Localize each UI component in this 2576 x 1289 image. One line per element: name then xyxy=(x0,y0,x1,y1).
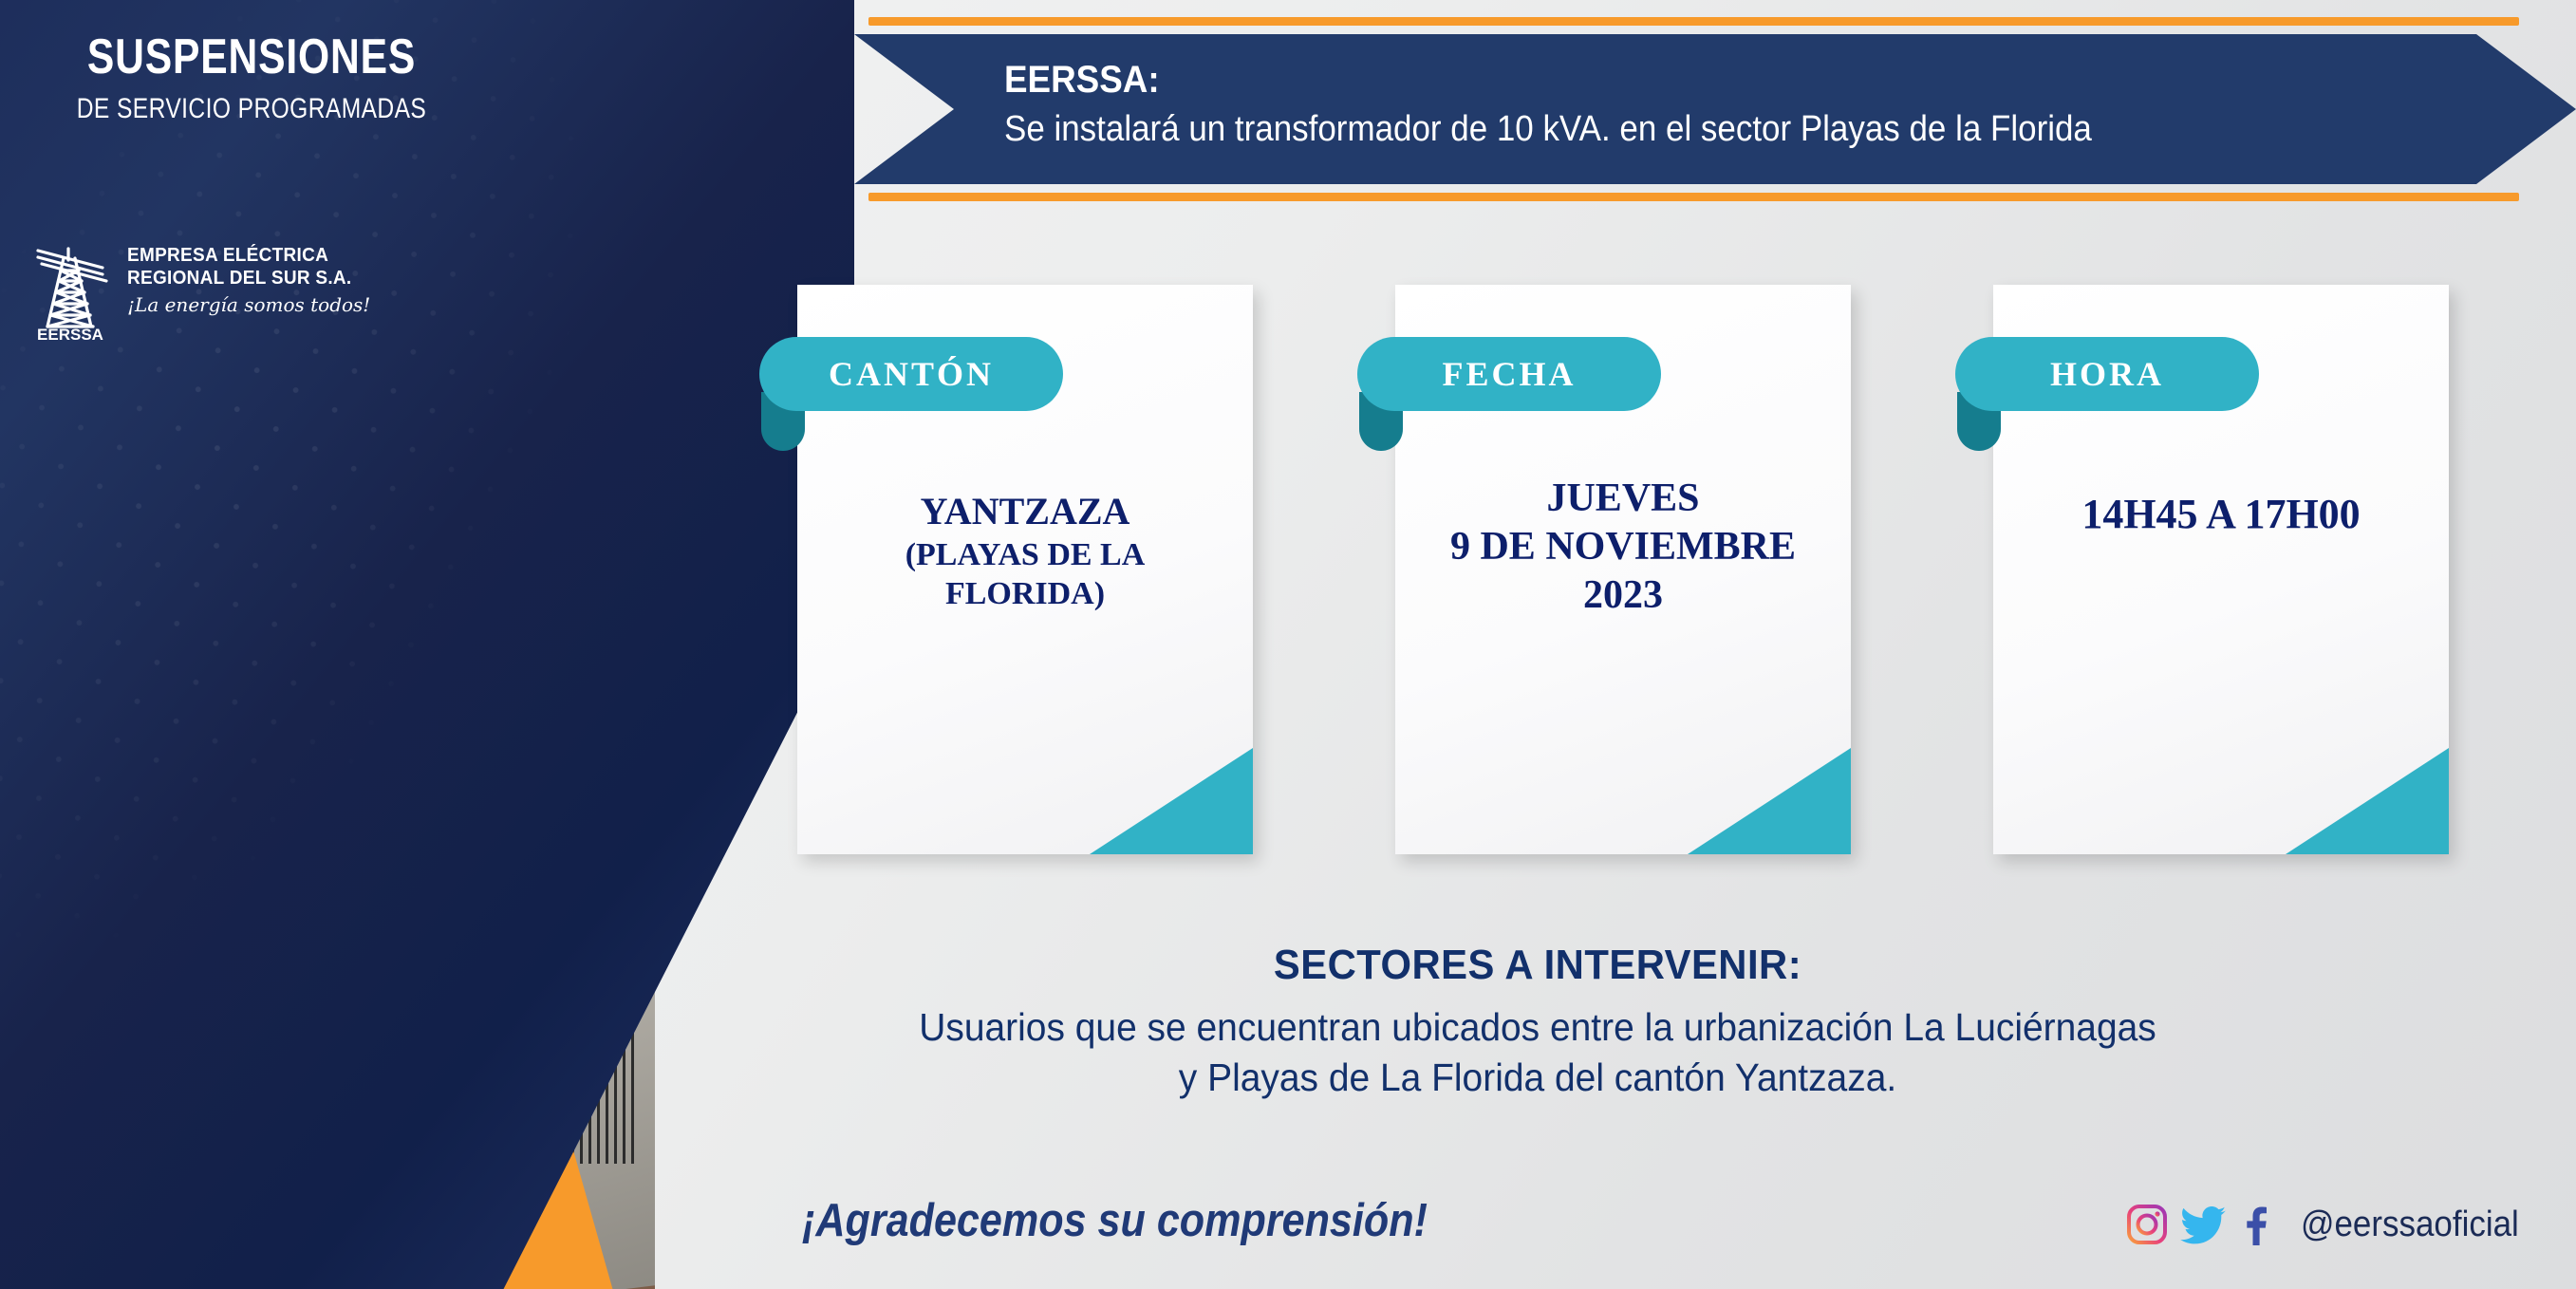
card-canton-label: CANTÓN xyxy=(829,354,994,394)
hora-range: 14H45 A 17H00 xyxy=(2010,489,2432,540)
heading-servicio-programadas: DE SERVICIO PROGRAMADAS xyxy=(46,93,458,125)
card-fecha: FECHA JUEVES 9 DE NOVIEMBRE 2023 xyxy=(1395,285,1851,854)
logo-slogan: ¡La energía somos todos! xyxy=(127,293,370,316)
banner-text: EERSSA: Se instalará un transformador de… xyxy=(1004,55,2187,154)
card-fecha-header: FECHA xyxy=(1357,337,1661,411)
orange-rule-bottom xyxy=(868,193,2519,201)
card-hora-label: HORA xyxy=(2050,354,2164,394)
card-corner-accent xyxy=(1090,748,1253,854)
sectors-line-1: Usuarios que se encuentran ubicados entr… xyxy=(762,1002,2313,1053)
card-hora-header: HORA xyxy=(1955,337,2259,411)
card-fecha-label: FECHA xyxy=(1443,354,1577,394)
banner-title: EERSSA: xyxy=(1004,55,2092,105)
card-corner-accent xyxy=(1688,748,1851,854)
facebook-icon[interactable] xyxy=(2238,1204,2270,1245)
sectors-section: SECTORES A INTERVENIR: Usuarios que se e… xyxy=(721,942,2354,1104)
twitter-icon[interactable] xyxy=(2179,1204,2227,1245)
logo-line-1: EMPRESA ELÉCTRICA xyxy=(127,245,359,268)
card-fecha-body: JUEVES 9 DE NOVIEMBRE 2023 xyxy=(1395,475,1851,621)
canton-sub-1: (PLAYAS DE LA xyxy=(814,535,1236,574)
poster-canvas: SUSPENSIONES DE SERVICIO PROGRAMADAS EER… xyxy=(0,0,2576,1289)
transmission-tower-icon: EERSSA xyxy=(32,239,114,342)
announcement-banner: EERSSA: Se instalará un transformador de… xyxy=(854,34,2576,184)
sectors-line-2: y Playas de La Florida del cantón Yantza… xyxy=(762,1053,2313,1103)
dot-pattern xyxy=(0,0,759,1113)
fecha-weekday: JUEVES xyxy=(1412,475,1834,523)
canton-sub-2: FLORIDA) xyxy=(814,574,1236,613)
card-canton: CANTÓN YANTZAZA (PLAYAS DE LA FLORIDA) xyxy=(797,285,1253,854)
poster-heading: SUSPENSIONES DE SERVICIO PROGRAMADAS xyxy=(0,28,503,125)
logo-wordmark: EMPRESA ELÉCTRICA REGIONAL DEL SUR S.A. … xyxy=(127,239,370,316)
instagram-icon[interactable] xyxy=(2126,1204,2168,1245)
eerssa-logo: EERSSA EMPRESA ELÉCTRICA REGIONAL DEL SU… xyxy=(32,239,370,342)
announcement-banner-block: EERSSA: Se instalará un transformador de… xyxy=(854,17,2576,201)
fecha-day-month: 9 DE NOVIEMBRE xyxy=(1412,523,1834,571)
pill-fecha: FECHA xyxy=(1357,337,1661,411)
card-hora-body: 14H45 A 17H00 xyxy=(1993,489,2449,540)
card-corner-accent xyxy=(2286,748,2449,854)
banner-message: Se instalará un transformador de 10 kVA.… xyxy=(1004,105,2092,154)
card-canton-header: CANTÓN xyxy=(759,337,1063,411)
canton-name: YANTZAZA xyxy=(814,489,1236,535)
card-canton-body: YANTZAZA (PLAYAS DE LA FLORIDA) xyxy=(797,489,1253,614)
social-handles: @eerssaoficial xyxy=(2126,1204,2529,1245)
logo-mark-text: EERSSA xyxy=(37,326,103,342)
social-handle-text[interactable]: @eerssaoficial xyxy=(2301,1205,2519,1245)
sectors-title: SECTORES A INTERVENIR: xyxy=(762,942,2313,989)
logo-line-2: REGIONAL DEL SUR S.A. xyxy=(127,268,359,290)
pill-hora: HORA xyxy=(1955,337,2259,411)
info-cards: CANTÓN YANTZAZA (PLAYAS DE LA FLORIDA) F… xyxy=(797,285,2487,892)
pill-canton: CANTÓN xyxy=(759,337,1063,411)
orange-rule-top xyxy=(868,17,2519,26)
heading-suspensiones: SUSPENSIONES xyxy=(46,28,458,85)
fecha-year: 2023 xyxy=(1412,571,1834,620)
thanks-message: ¡Agradecemos su comprensión! xyxy=(802,1194,1428,1247)
card-hora: HORA 14H45 A 17H00 xyxy=(1993,285,2449,854)
